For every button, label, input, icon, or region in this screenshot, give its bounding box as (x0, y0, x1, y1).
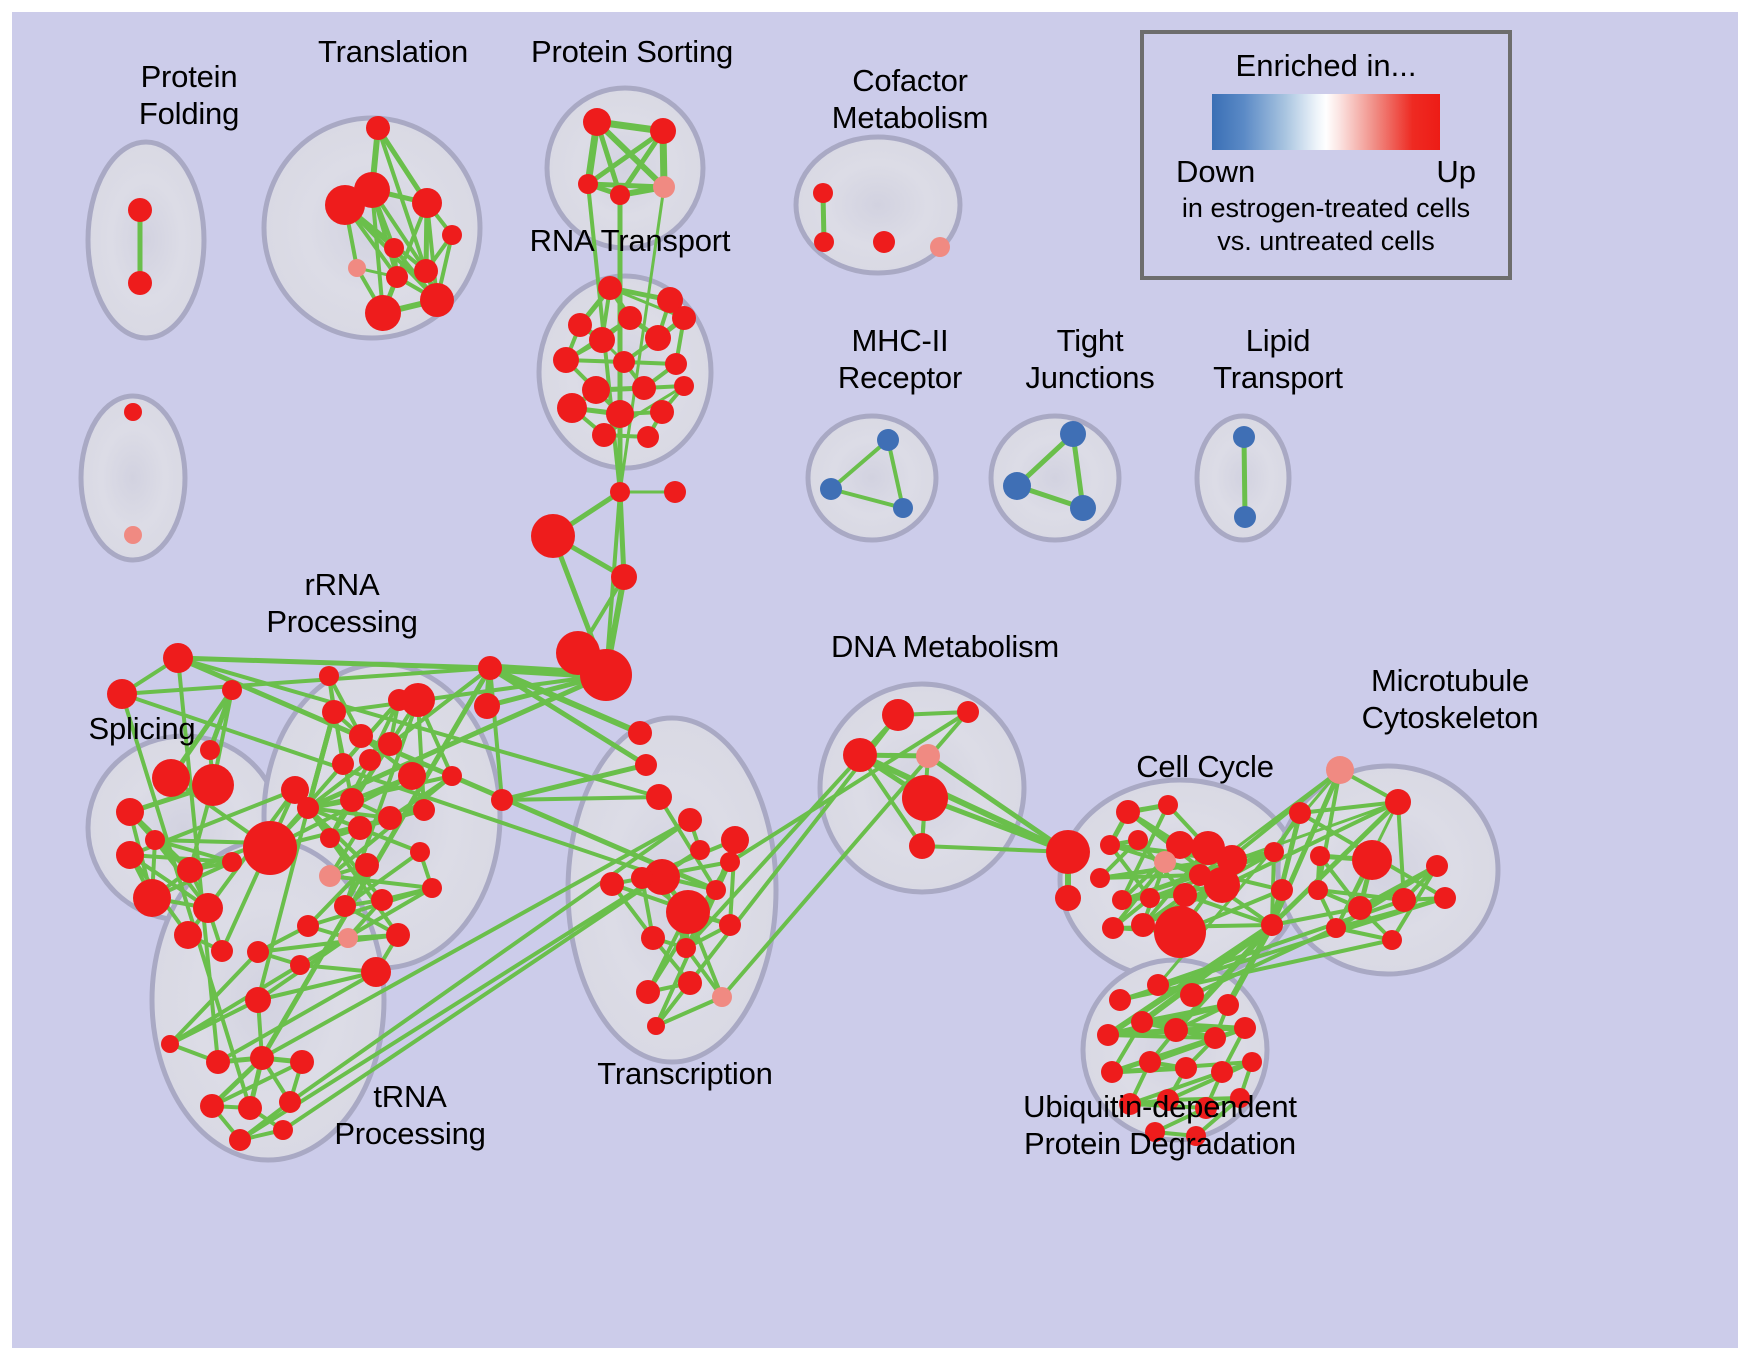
cluster-label-trna-processing: tRNA Processing (300, 1078, 520, 1152)
gene-set-node[interactable] (813, 183, 833, 203)
gene-set-node[interactable] (712, 987, 732, 1007)
gene-set-node[interactable] (1348, 896, 1372, 920)
gene-set-node[interactable] (877, 429, 899, 451)
gene-set-node[interactable] (297, 915, 319, 937)
gene-set-node[interactable] (580, 649, 632, 701)
gene-set-node[interactable] (1392, 888, 1416, 912)
edge (178, 658, 490, 668)
gene-set-node[interactable] (690, 840, 710, 860)
gene-set-node[interactable] (1154, 906, 1206, 958)
gene-set-node[interactable] (1211, 1061, 1233, 1083)
gene-set-node[interactable] (1097, 1024, 1119, 1046)
gene-set-node[interactable] (1112, 890, 1132, 910)
gene-set-node[interactable] (641, 926, 665, 950)
gene-set-node[interactable] (1204, 867, 1240, 903)
gene-set-node[interactable] (365, 295, 401, 331)
gene-set-node[interactable] (247, 941, 269, 963)
gene-set-node[interactable] (678, 971, 702, 995)
gene-set-node[interactable] (674, 376, 694, 396)
gene-set-node[interactable] (909, 833, 935, 859)
gene-set-node[interactable] (613, 351, 635, 373)
legend-down-label: Down (1176, 154, 1255, 190)
gene-set-node[interactable] (410, 842, 430, 862)
gene-set-node[interactable] (902, 775, 948, 821)
gene-set-node[interactable] (193, 893, 223, 923)
gene-set-node[interactable] (1158, 795, 1178, 815)
gene-set-node[interactable] (1234, 1017, 1256, 1039)
gene-set-node[interactable] (1140, 888, 1160, 908)
gene-set-node[interactable] (163, 643, 193, 673)
cluster-label-microtubule-cytoskeleton: Microtubule Cytoskeleton (1300, 662, 1600, 736)
gene-set-node[interactable] (124, 403, 142, 421)
gene-set-node[interactable] (647, 1017, 665, 1035)
gene-set-node[interactable] (322, 700, 346, 724)
gene-set-node[interactable] (1090, 868, 1110, 888)
gene-set-node[interactable] (384, 238, 404, 258)
cluster-label-rna-transport: RNA Transport (490, 222, 770, 259)
gene-set-node[interactable] (273, 1120, 293, 1140)
gene-set-node[interactable] (636, 980, 660, 1004)
gene-set-node[interactable] (355, 853, 379, 877)
gene-set-node[interactable] (1385, 789, 1411, 815)
gene-set-node[interactable] (478, 656, 502, 680)
gene-set-node[interactable] (290, 1050, 314, 1074)
gene-set-node[interactable] (319, 865, 341, 887)
gene-set-node[interactable] (1101, 1061, 1123, 1083)
gene-set-node[interactable] (442, 766, 462, 786)
gene-set-node[interactable] (386, 266, 408, 288)
gene-set-node[interactable] (348, 259, 366, 277)
gene-set-node[interactable] (297, 797, 319, 819)
gene-set-node[interactable] (678, 808, 702, 832)
gene-set-node[interactable] (582, 376, 610, 404)
gene-set-node[interactable] (721, 826, 749, 854)
gene-set-node[interactable] (531, 514, 575, 558)
cluster-ellipse-protein-folding (88, 142, 204, 338)
gene-set-node[interactable] (1426, 855, 1448, 877)
gene-set-node[interactable] (414, 259, 438, 283)
gene-set-node[interactable] (229, 1129, 251, 1151)
gene-set-node[interactable] (245, 987, 271, 1013)
gene-set-node[interactable] (606, 400, 634, 428)
gene-set-node[interactable] (243, 821, 297, 875)
gene-set-node[interactable] (632, 376, 656, 400)
gene-set-node[interactable] (1264, 842, 1284, 862)
gene-set-node[interactable] (1131, 1011, 1153, 1033)
gene-set-node[interactable] (1003, 472, 1031, 500)
gene-set-node[interactable] (319, 666, 339, 686)
gene-set-node[interactable] (631, 867, 653, 889)
gene-set-node[interactable] (279, 1091, 301, 1113)
gene-set-node[interactable] (1242, 1052, 1262, 1072)
edge (588, 184, 664, 187)
gene-set-node[interactable] (583, 108, 611, 136)
cluster-label-translation: Translation (268, 33, 518, 70)
gene-set-node[interactable] (882, 699, 914, 731)
cluster-label-transcription: Transcription (560, 1055, 810, 1092)
gene-set-node[interactable] (557, 393, 587, 423)
gene-set-node[interactable] (1261, 914, 1283, 936)
gene-set-node[interactable] (133, 879, 171, 917)
gene-set-node[interactable] (1139, 1051, 1161, 1073)
gene-set-node[interactable] (610, 185, 630, 205)
gene-set-node[interactable] (650, 118, 676, 144)
gene-set-node[interactable] (600, 872, 624, 896)
gene-set-node[interactable] (348, 816, 372, 840)
gene-set-node[interactable] (1070, 495, 1096, 521)
gene-set-node[interactable] (116, 841, 144, 869)
gene-set-node[interactable] (124, 526, 142, 544)
gene-set-node[interactable] (1046, 830, 1090, 874)
gene-set-node[interactable] (401, 683, 435, 717)
gene-set-node[interactable] (893, 498, 913, 518)
gene-set-node[interactable] (420, 283, 454, 317)
gene-set-node[interactable] (320, 828, 340, 848)
gene-set-node[interactable] (628, 721, 652, 745)
gene-set-node[interactable] (568, 313, 592, 337)
gene-set-node[interactable] (611, 564, 637, 590)
gene-set-node[interactable] (1100, 835, 1120, 855)
gene-set-node[interactable] (412, 188, 442, 218)
gene-set-node[interactable] (637, 426, 659, 448)
legend-up-label: Up (1436, 154, 1476, 190)
gene-set-node[interactable] (618, 306, 642, 330)
gene-set-node[interactable] (719, 914, 741, 936)
gene-set-node[interactable] (174, 921, 202, 949)
gene-set-node[interactable] (1217, 994, 1239, 1016)
gene-set-node[interactable] (161, 1035, 179, 1053)
gene-set-node[interactable] (1147, 974, 1169, 996)
gene-set-node[interactable] (1434, 887, 1456, 909)
legend-subtitle: in estrogen-treated cells vs. untreated … (1144, 192, 1508, 258)
gene-set-node[interactable] (152, 759, 190, 797)
cluster-label-ubiquitin-protein-degradation: Ubiquitin-dependent Protein Degradation (990, 1088, 1330, 1162)
gene-set-node[interactable] (366, 116, 390, 140)
cluster-label-protein-folding: Protein Folding (84, 58, 294, 132)
gene-set-node[interactable] (1164, 1018, 1188, 1042)
gene-set-node[interactable] (442, 225, 462, 245)
gene-set-node[interactable] (1271, 879, 1293, 901)
cluster-label-dna-metabolism: DNA Metabolism (800, 628, 1090, 665)
gene-set-node[interactable] (664, 481, 686, 503)
gene-set-node[interactable] (250, 1046, 274, 1070)
gene-set-node[interactable] (192, 764, 234, 806)
gene-set-node[interactable] (814, 232, 834, 252)
gene-set-node[interactable] (1175, 1057, 1197, 1079)
gene-set-node[interactable] (592, 423, 616, 447)
gene-set-node[interactable] (1352, 840, 1392, 880)
gene-set-node[interactable] (491, 789, 513, 811)
gene-set-node[interactable] (957, 701, 979, 723)
gene-set-node[interactable] (332, 753, 354, 775)
gene-set-node[interactable] (1173, 883, 1197, 907)
figure-root: Protein FoldingTranslationProtein Sortin… (0, 0, 1750, 1360)
gene-set-node[interactable] (378, 806, 402, 830)
gene-set-node[interactable] (1116, 800, 1140, 824)
gene-set-node[interactable] (1234, 506, 1256, 528)
cluster-label-splicing: Splicing (52, 710, 232, 747)
gene-set-node[interactable] (1289, 802, 1311, 824)
gene-set-node[interactable] (349, 724, 373, 748)
edge (1244, 437, 1245, 517)
gene-set-node[interactable] (340, 788, 364, 812)
gene-set-node[interactable] (650, 400, 674, 424)
gene-set-node[interactable] (177, 857, 203, 883)
gene-set-node[interactable] (222, 680, 242, 700)
gene-set-node[interactable] (145, 830, 165, 850)
gene-set-node[interactable] (334, 895, 356, 917)
gene-set-node[interactable] (398, 762, 426, 790)
gene-set-node[interactable] (1326, 918, 1346, 938)
gene-set-node[interactable] (1180, 983, 1204, 1007)
gene-set-node[interactable] (290, 955, 310, 975)
gene-set-node[interactable] (843, 738, 877, 772)
gene-set-node[interactable] (386, 923, 410, 947)
gene-set-node[interactable] (672, 306, 696, 330)
gene-set-node[interactable] (646, 784, 672, 810)
gene-set-node[interactable] (720, 852, 740, 872)
gene-set-node[interactable] (211, 940, 233, 962)
gene-set-node[interactable] (222, 852, 242, 872)
cluster-label-protein-sorting: Protein Sorting (492, 33, 772, 70)
gene-set-node[interactable] (653, 176, 675, 198)
gene-set-node[interactable] (1109, 989, 1131, 1011)
cluster-label-cell-cycle: Cell Cycle (1090, 748, 1320, 785)
gene-set-node[interactable] (645, 325, 671, 351)
gene-set-node[interactable] (238, 1096, 262, 1120)
cluster-ellipse-mhc-ii-receptor (808, 416, 936, 540)
gene-set-node[interactable] (1310, 846, 1330, 866)
gene-set-node[interactable] (206, 1050, 230, 1074)
gene-set-node[interactable] (474, 693, 500, 719)
gene-set-node[interactable] (1102, 917, 1124, 939)
gene-set-node[interactable] (916, 744, 940, 768)
gene-set-node[interactable] (1128, 830, 1148, 850)
gene-set-node[interactable] (666, 890, 710, 934)
cluster-label-rrna-processing: rRNA Processing (232, 566, 452, 640)
gene-set-node[interactable] (706, 880, 726, 900)
gene-set-node[interactable] (873, 231, 895, 253)
color-gradient-bar (1212, 94, 1440, 150)
gene-set-node[interactable] (116, 798, 144, 826)
gene-set-node[interactable] (371, 889, 393, 911)
gene-set-node[interactable] (598, 276, 622, 300)
gene-set-node[interactable] (930, 237, 950, 257)
gene-set-node[interactable] (1204, 1027, 1226, 1049)
gene-set-node[interactable] (578, 174, 598, 194)
gene-set-node[interactable] (359, 749, 381, 771)
gene-set-node[interactable] (1131, 913, 1155, 937)
gene-set-node[interactable] (378, 732, 402, 756)
legend-title: Enriched in... (1144, 48, 1508, 84)
gene-set-node[interactable] (610, 482, 630, 502)
gene-set-node[interactable] (200, 1094, 224, 1118)
gene-set-node[interactable] (676, 938, 696, 958)
gene-set-node[interactable] (553, 347, 579, 373)
gene-set-node[interactable] (325, 185, 365, 225)
gene-set-node[interactable] (1154, 851, 1176, 873)
legend-box: Enriched in... Down Up in estrogen-treat… (1140, 30, 1512, 280)
gene-set-node[interactable] (1055, 885, 1081, 911)
gene-set-node[interactable] (413, 799, 435, 821)
gene-set-node[interactable] (820, 478, 842, 500)
gene-set-node[interactable] (338, 928, 358, 948)
gene-set-node[interactable] (1382, 930, 1402, 950)
gene-set-node[interactable] (422, 878, 442, 898)
gene-set-node[interactable] (665, 353, 687, 375)
gene-set-node[interactable] (589, 327, 615, 353)
gene-set-node[interactable] (1233, 426, 1255, 448)
gene-set-node[interactable] (635, 754, 657, 776)
gene-set-node[interactable] (1308, 880, 1328, 900)
gene-set-node[interactable] (1326, 756, 1354, 784)
cluster-label-cofactor-metabolism: Cofactor Metabolism (780, 62, 1040, 136)
cluster-label-tight-junctions: Tight Junctions (980, 322, 1200, 396)
cluster-label-lipid-transport: Lipid Transport (1168, 322, 1388, 396)
gene-set-node[interactable] (361, 957, 391, 987)
gene-set-node[interactable] (128, 198, 152, 222)
gene-set-node[interactable] (1060, 421, 1086, 447)
gene-set-node[interactable] (128, 271, 152, 295)
gene-set-node[interactable] (107, 679, 137, 709)
